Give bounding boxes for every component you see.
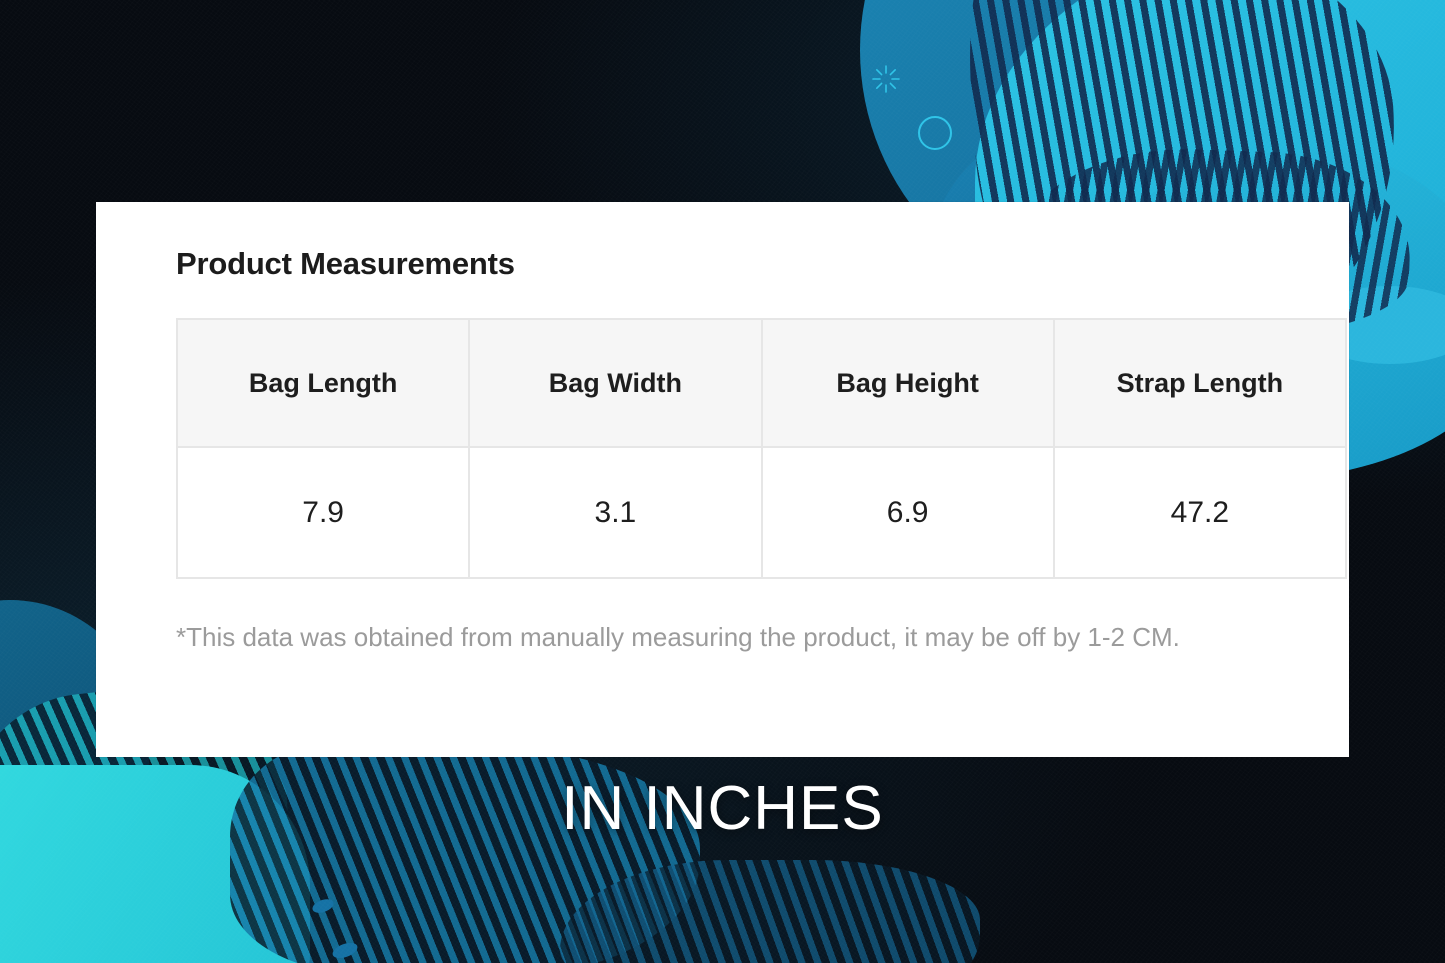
measurements-table: Bag Length Bag Width Bag Height Strap Le… bbox=[176, 318, 1347, 579]
cell-strap-length: 47.2 bbox=[1054, 447, 1346, 578]
column-header-bag-height: Bag Height bbox=[762, 319, 1054, 447]
cell-bag-length: 7.9 bbox=[177, 447, 469, 578]
column-header-bag-width: Bag Width bbox=[469, 319, 761, 447]
table-header-row: Bag Length Bag Width Bag Height Strap Le… bbox=[177, 319, 1346, 447]
table-header: Bag Length Bag Width Bag Height Strap Le… bbox=[177, 319, 1346, 447]
poster-canvas: Product Measurements Bag Length Bag Widt… bbox=[0, 0, 1445, 963]
table-row: 7.9 3.1 6.9 47.2 bbox=[177, 447, 1346, 578]
column-header-strap-length: Strap Length bbox=[1054, 319, 1346, 447]
circle-outline-icon bbox=[918, 116, 952, 150]
cell-bag-height: 6.9 bbox=[762, 447, 1054, 578]
sparkle-icon bbox=[872, 65, 900, 93]
measurement-disclaimer-note: *This data was obtained from manually me… bbox=[176, 619, 1286, 656]
measurements-card: Product Measurements Bag Length Bag Widt… bbox=[96, 202, 1349, 757]
column-header-bag-length: Bag Length bbox=[177, 319, 469, 447]
table-body: 7.9 3.1 6.9 47.2 bbox=[177, 447, 1346, 578]
page-title: Product Measurements bbox=[176, 246, 1309, 282]
unit-caption: IN INCHES bbox=[0, 773, 1445, 844]
cell-bag-width: 3.1 bbox=[469, 447, 761, 578]
